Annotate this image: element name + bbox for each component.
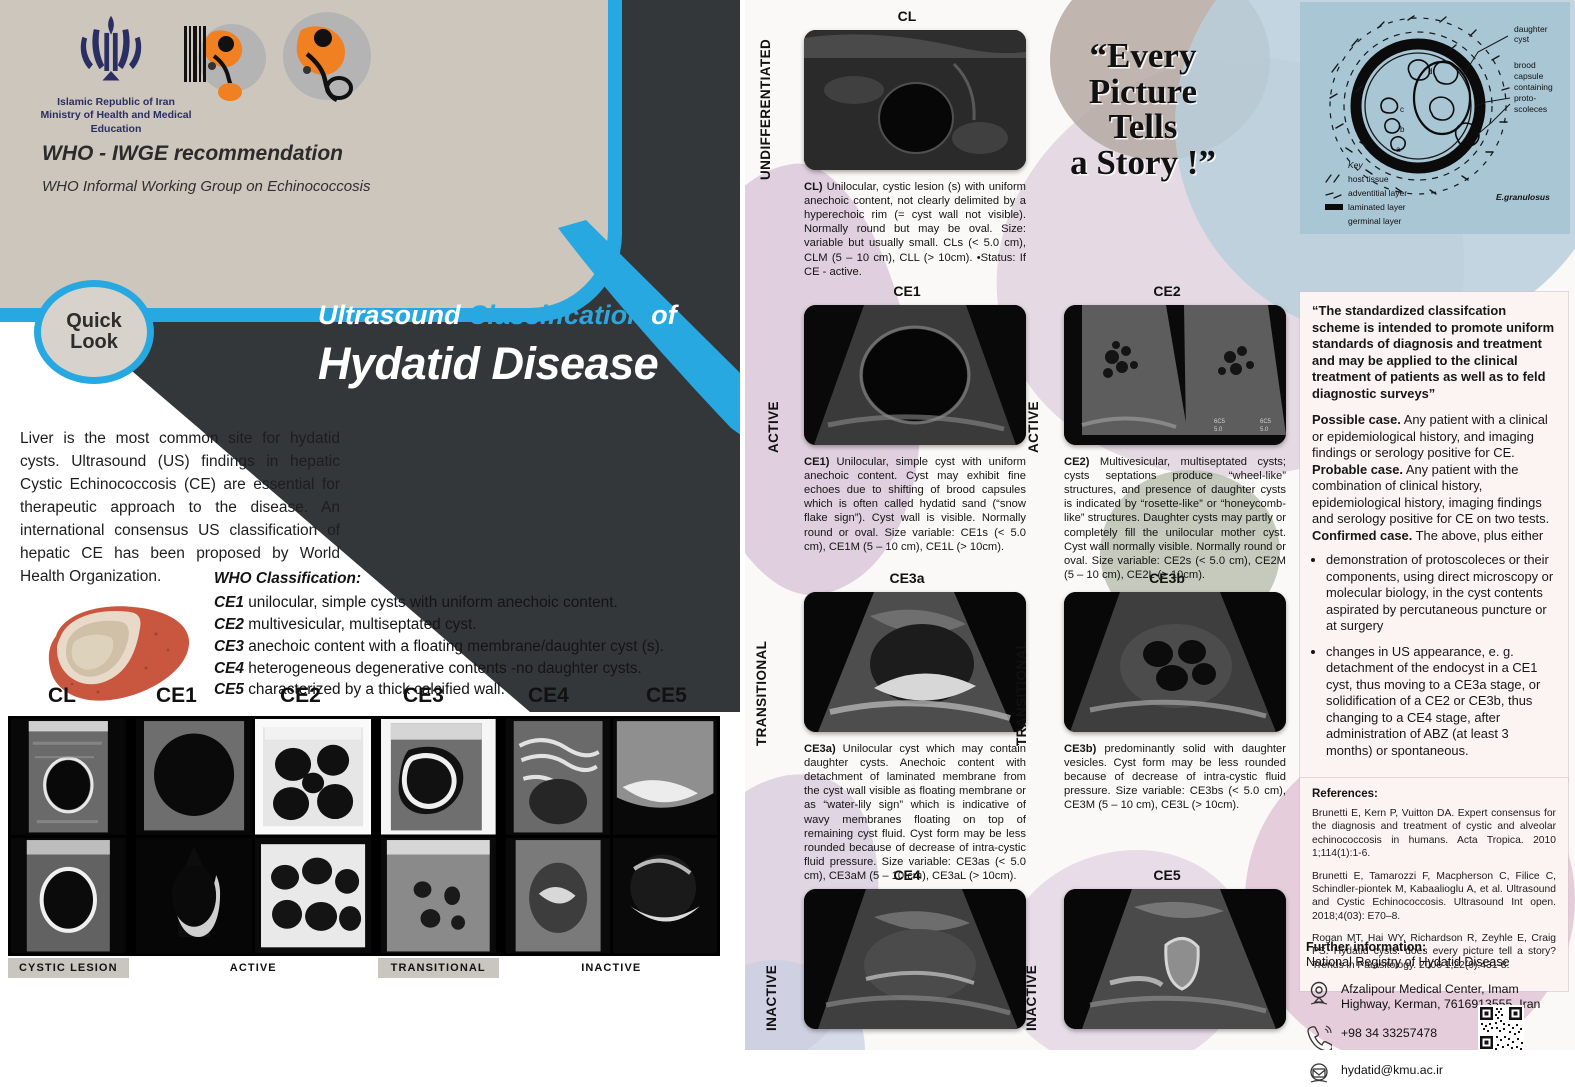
card-ce1-description: CE1) Unilocular, simple cyst with unifor… bbox=[804, 455, 1026, 554]
card-cl-caption: CL bbox=[782, 8, 1032, 24]
card-ce3b-description: CE3b) predominantly solid with daughter … bbox=[1064, 742, 1286, 813]
grid-header-ce5: CE5 bbox=[646, 684, 687, 708]
possible-case-label: Possible case. bbox=[1312, 412, 1401, 427]
card-ce1-caption: CE1 bbox=[782, 283, 1032, 299]
who-class-row-ce2: CE2 multivesicular, multiseptated cyst. bbox=[214, 614, 724, 636]
card-ce1-desc-text: Unilocular, simple cyst with uniform ane… bbox=[804, 456, 1026, 553]
card-cl-desc-lead: CL) bbox=[804, 181, 823, 193]
ministry-line2: Ministry of Health and Medical Education bbox=[16, 109, 216, 136]
card-ce3a-description: CE3a) Unilocular cyst which may contain … bbox=[804, 742, 1026, 883]
intro-paragraph: Liver is the most common site for hydati… bbox=[20, 428, 340, 589]
every-picture-headline: “Every Picture Tells a Story !” bbox=[1053, 38, 1233, 181]
title-ultrasound: Ultrasound bbox=[318, 300, 468, 330]
grid-header-ce3: CE3 bbox=[403, 684, 444, 708]
who-class-code-ce2: CE2 bbox=[214, 616, 244, 633]
card-cl-description: CL) Unilocular, cystic lesion (s) with u… bbox=[804, 180, 1026, 279]
card-ce5-category: INACTIVE bbox=[1024, 901, 1039, 1031]
card-ce1-ultrasound-image bbox=[804, 305, 1026, 445]
who-classification-header: WHO Classification: bbox=[214, 568, 724, 590]
poster-root: Islamic Republic of Iran Ministry of Hea… bbox=[0, 0, 1575, 1050]
card-ce3a: CE3a TRANSITIONAL CE3a) Unilocular cyst … bbox=[782, 570, 1032, 860]
further-subheader: National Registry of Hydatid Disease bbox=[1306, 955, 1568, 969]
probable-case: Probable case. Any patient with the comb… bbox=[1312, 462, 1556, 528]
ministry-label: Islamic Republic of Iran Ministry of Hea… bbox=[16, 96, 216, 136]
ultrasound-grid: CL CE1 CE2 CE3 CE4 CE5 bbox=[8, 684, 720, 978]
card-ce2-category: ACTIVE bbox=[1026, 313, 1041, 453]
svg-text:Key: Key bbox=[1348, 160, 1363, 170]
card-ce4-ultrasound-image bbox=[804, 889, 1026, 1029]
svg-text:scoleces: scoleces bbox=[1514, 104, 1547, 114]
svg-text:laminated layer: laminated layer bbox=[1348, 202, 1406, 212]
confirmed-case-label: Confirmed case. bbox=[1312, 528, 1412, 543]
card-ce3a-ultrasound-image bbox=[804, 592, 1026, 732]
card-ce3b: CE3b TRANSITIONAL CE3b) predominantly so… bbox=[1042, 570, 1292, 860]
quick-look-badge: Quick Look bbox=[34, 280, 154, 384]
reference-item-2: Brunetti E, Tamarozzi F, Macpherson C, F… bbox=[1312, 870, 1556, 924]
svg-text:5.0: 5.0 bbox=[1260, 427, 1269, 433]
card-ce3a-desc-lead: CE3a) bbox=[804, 743, 836, 755]
svg-text:a: a bbox=[1396, 145, 1401, 154]
svg-text:adventitial layer: adventitial layer bbox=[1348, 188, 1407, 198]
contact-address-row: Afzalipour Medical Center, Imam Highway,… bbox=[1306, 980, 1568, 1013]
svg-text:containing: containing bbox=[1514, 82, 1553, 92]
cyst-anatomy-diagram: ab cd daughtercyst broodcapsule containi… bbox=[1300, 2, 1570, 234]
card-ce4: CE4 INACTIVE bbox=[782, 867, 1032, 1047]
card-ce1: CE1 ACTIVE CE1) Unilocular, simple cyst … bbox=[782, 283, 1032, 553]
further-header: Further information: bbox=[1306, 940, 1568, 954]
who-class-code-ce4: CE4 bbox=[214, 660, 244, 677]
card-ce3a-desc-text: Unilocular cyst which may contain daught… bbox=[804, 743, 1026, 882]
who-class-row-ce1: CE1 unilocular, simple cysts with unifor… bbox=[214, 592, 724, 614]
svg-text:capsule: capsule bbox=[1514, 71, 1544, 81]
location-pin-icon bbox=[1306, 980, 1332, 1006]
title-classification: Classification bbox=[468, 300, 644, 330]
us-image-ce1-2 bbox=[136, 838, 252, 954]
svg-text:host tissue: host tissue bbox=[1348, 174, 1389, 184]
probable-case-label: Probable case. bbox=[1312, 462, 1403, 477]
ultrasound-grid-headers: CL CE1 CE2 CE3 CE4 CE5 bbox=[8, 684, 720, 716]
who-class-row-ce4: CE4 heterogeneous degenerative contents … bbox=[214, 658, 724, 680]
card-cl-ultrasound-image bbox=[804, 30, 1026, 170]
headline-line1: “Every bbox=[1053, 38, 1233, 74]
who-recommendation-title: WHO - IWGE recommendation bbox=[42, 142, 343, 166]
poster-title-line1: Ultrasound Classification of bbox=[318, 300, 677, 331]
poster-title-line2: Hydatid Disease bbox=[318, 338, 658, 390]
ministry-line1: Islamic Republic of Iran bbox=[16, 96, 216, 109]
us-image-ce4-1 bbox=[506, 719, 610, 835]
footer-transitional: TRANSITIONAL bbox=[378, 958, 499, 978]
us-image-ce2-2 bbox=[255, 838, 371, 954]
headline-line3: Tells bbox=[1053, 109, 1233, 145]
quick-look-line1: Quick bbox=[66, 311, 122, 332]
card-ce4-caption: CE4 bbox=[782, 867, 1032, 883]
card-ce1-desc-lead: CE1) bbox=[804, 456, 830, 468]
email-icon bbox=[1306, 1061, 1332, 1087]
card-ce4-category: INACTIVE bbox=[764, 901, 779, 1031]
classification-scheme-box: “The standardized classifcation scheme i… bbox=[1300, 292, 1568, 781]
card-ce3b-category: TRANSITIONAL bbox=[1014, 596, 1029, 746]
svg-text:cyst: cyst bbox=[1514, 34, 1530, 44]
who-class-text-ce3: anechoic content with a floating membran… bbox=[244, 638, 664, 655]
title-of: of bbox=[644, 300, 677, 330]
headline-line4: a Story !” bbox=[1053, 145, 1233, 181]
card-ce1-category: ACTIVE bbox=[766, 313, 781, 453]
headline-line2: Picture bbox=[1053, 74, 1233, 110]
card-ce2-description: CE2) Multivesicular, multiseptated cysts… bbox=[1064, 455, 1286, 582]
contact-email-row[interactable]: hydatid@kmu.ac.ir bbox=[1306, 1061, 1568, 1087]
card-ce3b-caption: CE3b bbox=[1042, 570, 1292, 586]
us-column-inactive bbox=[503, 716, 721, 956]
card-ce2: CE2 ACTIVE 6C55.0 6C55.0 bbox=[1042, 283, 1292, 563]
reference-item-1: Brunetti E, Kern P, Vuitton DA. Expert c… bbox=[1312, 807, 1556, 861]
card-ce3a-category: TRANSITIONAL bbox=[754, 596, 769, 746]
footer-cystic-lesion: CYSTIC LESION bbox=[8, 958, 129, 978]
quick-look-line2: Look bbox=[70, 332, 118, 353]
svg-text:proto-: proto- bbox=[1514, 93, 1536, 103]
ultrasound-image-block bbox=[8, 716, 720, 956]
card-ce3a-caption: CE3a bbox=[782, 570, 1032, 586]
us-image-cl-2 bbox=[11, 838, 126, 954]
card-ce5-caption: CE5 bbox=[1042, 867, 1292, 883]
left-panel: Islamic Republic of Iran Ministry of Hea… bbox=[0, 0, 740, 1050]
svg-text:c: c bbox=[1400, 105, 1404, 114]
who-class-row-ce3: CE3 anechoic content with a floating mem… bbox=[214, 636, 724, 658]
card-cl: CL UNDIFFERENTIATED CL) Unilocular, cyst… bbox=[782, 8, 1032, 268]
footer-inactive: INACTIVE bbox=[503, 958, 721, 978]
us-image-ce5-2 bbox=[613, 838, 717, 954]
grid-header-ce2: CE2 bbox=[280, 684, 321, 708]
svg-text:germinal layer: germinal layer bbox=[1348, 216, 1402, 226]
svg-text:6C5: 6C5 bbox=[1214, 419, 1226, 425]
svg-text:d: d bbox=[1428, 67, 1432, 76]
iran-emblem-icon bbox=[63, 12, 159, 90]
us-image-ce3-1 bbox=[381, 719, 496, 835]
svg-text:b: b bbox=[1400, 125, 1405, 134]
who-class-text-ce2: multivesicular, multiseptated cyst. bbox=[244, 616, 477, 633]
contact-address: Afzalipour Medical Center, Imam Highway,… bbox=[1341, 980, 1568, 1013]
card-ce3b-ultrasound-image bbox=[1064, 592, 1286, 732]
svg-text:daughter: daughter bbox=[1514, 24, 1548, 34]
card-ce2-caption: CE2 bbox=[1042, 283, 1292, 299]
us-image-ce4-2 bbox=[506, 838, 610, 954]
phone-icon bbox=[1306, 1024, 1332, 1050]
card-cl-desc-text: Unilocular, cystic lesion (s) with unifo… bbox=[804, 181, 1026, 278]
grid-header-ce4: CE4 bbox=[528, 684, 569, 708]
footer-active: ACTIVE bbox=[133, 958, 374, 978]
confirmed-case-text: The above, plus either bbox=[1412, 528, 1543, 543]
card-ce2-desc-lead: CE2) bbox=[1064, 456, 1090, 468]
card-ce5: CE5 INACTIVE bbox=[1042, 867, 1292, 1047]
confirmed-bullet-1: demonstration of protoscoleces or their … bbox=[1326, 552, 1556, 635]
qr-code-icon[interactable] bbox=[1478, 1005, 1524, 1051]
us-column-cystic-lesion bbox=[8, 716, 129, 956]
svg-text:brood: brood bbox=[1514, 60, 1536, 70]
card-ce5-ultrasound-image bbox=[1064, 889, 1286, 1029]
further-information: Further information: National Registry o… bbox=[1306, 940, 1568, 1087]
ultrasound-grid-footers: CYSTIC LESION ACTIVE TRANSITIONAL INACTI… bbox=[8, 958, 720, 978]
svg-text:6C5: 6C5 bbox=[1260, 419, 1272, 425]
us-image-cl-1 bbox=[11, 719, 126, 835]
card-ce2-ultrasound-image: 6C55.0 6C55.0 bbox=[1064, 305, 1286, 445]
research-center-logo-icon bbox=[277, 8, 377, 104]
who-classification-list: WHO Classification: CE1 unilocular, simp… bbox=[214, 568, 724, 701]
us-column-transitional bbox=[378, 716, 499, 956]
who-class-text-ce1: unilocular, simple cysts with uniform an… bbox=[244, 594, 618, 611]
us-column-active bbox=[133, 716, 374, 956]
confirmed-case-bullets: demonstration of protoscoleces or their … bbox=[1312, 552, 1556, 759]
card-ce2-desc-text: Multivesicular, multiseptated cysts; cys… bbox=[1064, 456, 1286, 581]
us-image-ce2-1 bbox=[255, 719, 371, 835]
who-class-code-ce1: CE1 bbox=[214, 594, 244, 611]
svg-text:5.0: 5.0 bbox=[1214, 427, 1223, 433]
card-cl-category: UNDIFFERENTIATED bbox=[758, 30, 773, 180]
who-subtitle: WHO Informal Working Group on Echinococc… bbox=[42, 176, 372, 197]
us-image-ce1-1 bbox=[136, 719, 252, 835]
scheme-quote: “The standardized classifcation scheme i… bbox=[1312, 303, 1556, 402]
us-image-ce5-1 bbox=[613, 719, 717, 835]
contact-email: hydatid@kmu.ac.ir bbox=[1341, 1061, 1443, 1078]
confirmed-case: Confirmed case. The above, plus either bbox=[1312, 528, 1556, 545]
grid-header-cl: CL bbox=[48, 684, 76, 708]
us-image-ce3-2 bbox=[381, 838, 496, 954]
who-subtitle-text: WHO Informal Working Group on Echinococc… bbox=[42, 178, 370, 195]
possible-case: Possible case. Any patient with a clinic… bbox=[1312, 412, 1556, 462]
card-ce3b-desc-lead: CE3b) bbox=[1064, 743, 1096, 755]
who-class-code-ce3: CE3 bbox=[214, 638, 244, 655]
rihd-logo-icon bbox=[182, 18, 270, 104]
panel-divider bbox=[742, 0, 745, 1050]
grid-header-ce1: CE1 bbox=[156, 684, 197, 708]
references-header: References: bbox=[1312, 788, 1556, 800]
contact-phone: +98 34 33257478 bbox=[1341, 1024, 1437, 1041]
svg-text:E.granulosus: E.granulosus bbox=[1496, 192, 1550, 202]
confirmed-bullet-2: changes in US appearance, e. g. detachme… bbox=[1326, 644, 1556, 760]
who-class-text-ce4: heterogeneous degenerative contents -no … bbox=[244, 660, 642, 677]
contact-phone-row[interactable]: +98 34 33257478 bbox=[1306, 1024, 1568, 1050]
card-ce3b-desc-text: predominantly solid with daughter vesicl… bbox=[1064, 743, 1286, 811]
